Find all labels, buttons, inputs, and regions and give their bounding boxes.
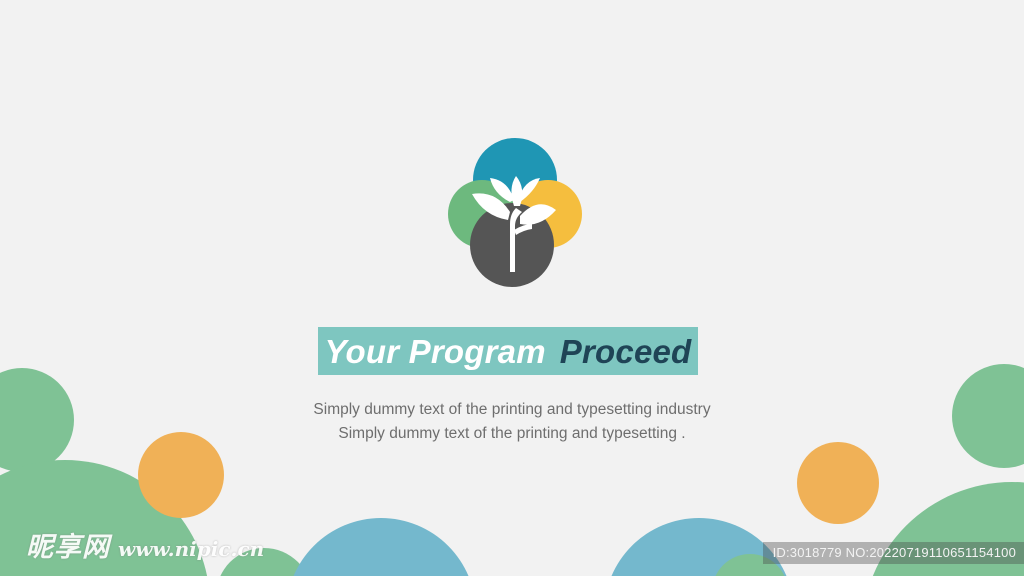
image-id-strip: ID:3018779 NO:20220719110651154100 xyxy=(763,542,1024,564)
title-primary-text: Your Program xyxy=(325,335,546,368)
subtitle-line-2: Simply dummy text of the printing and ty… xyxy=(0,422,1024,446)
watermark-brand-cn: 昵享网 xyxy=(26,525,110,564)
site-watermark: 昵享网 www.nipic.cn xyxy=(26,525,264,564)
sprout-four-circle-logo xyxy=(440,132,590,292)
slide-canvas: Your Program Proceed Simply dummy text o… xyxy=(0,0,1024,576)
title-secondary-text: Proceed xyxy=(560,335,692,368)
decorative-circle-blue-bottom-center-l xyxy=(286,518,476,576)
title-bar: Your Program Proceed xyxy=(318,327,698,375)
subtitle-line-1: Simply dummy text of the printing and ty… xyxy=(0,398,1024,422)
watermark-url: www.nipic.cn xyxy=(118,537,264,561)
subtitle-block: Simply dummy text of the printing and ty… xyxy=(0,398,1024,446)
decorative-circle-orange-right xyxy=(797,442,879,524)
